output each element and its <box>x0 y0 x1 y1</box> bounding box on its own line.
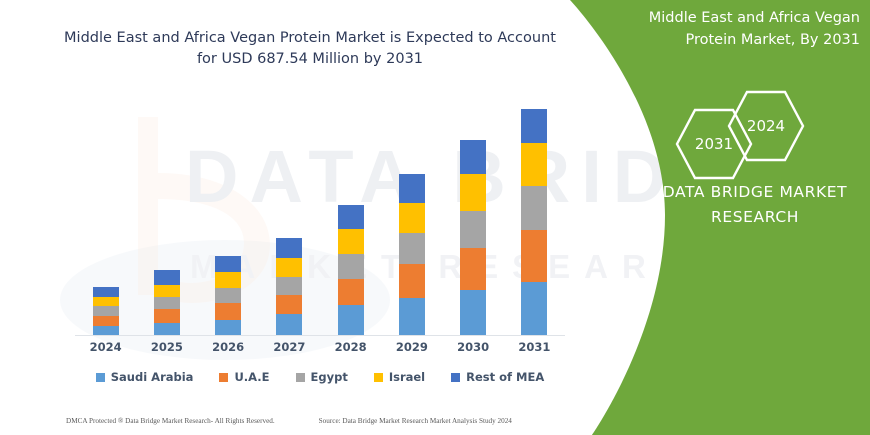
bar-segment-2028-egypt <box>338 254 364 279</box>
chart-legend: Saudi ArabiaU.A.EEgyptIsraelRest of MEA <box>75 370 565 384</box>
bar-segment-2029-egypt <box>399 233 425 264</box>
bar-segment-2027-rest-of-mea <box>276 238 302 259</box>
panel-brand-line1: DATA BRIDGE MARKET <box>650 180 860 205</box>
bar-2029 <box>399 174 425 335</box>
legend-swatch-icon <box>96 373 105 382</box>
bar-segment-2030-saudi-arabia <box>460 290 486 335</box>
bar-2024 <box>93 287 119 335</box>
legend-swatch-icon <box>374 373 383 382</box>
bar-2026 <box>215 256 241 335</box>
legend-item-saudi-arabia[interactable]: Saudi Arabia <box>96 370 194 384</box>
legend-swatch-icon <box>451 373 460 382</box>
legend-swatch-icon <box>219 373 228 382</box>
bar-segment-2029-rest-of-mea <box>399 174 425 203</box>
bar-segment-2027-israel <box>276 258 302 276</box>
chart-plot-area <box>75 100 565 336</box>
bar-segment-2025-egypt <box>154 297 180 309</box>
bar-2031 <box>521 109 547 335</box>
bar-segment-2025-u-a-e <box>154 309 180 322</box>
legend-item-u-a-e[interactable]: U.A.E <box>219 370 269 384</box>
bar-segment-2026-u-a-e <box>215 303 241 319</box>
bar-segment-2024-israel <box>93 297 119 306</box>
legend-label: Israel <box>389 370 425 384</box>
bar-segment-2026-israel <box>215 272 241 287</box>
bar-segment-2031-u-a-e <box>521 230 547 281</box>
hexagon-2024-label: 2024 <box>727 88 805 164</box>
hexagon-group: 2031 2024 <box>665 88 845 168</box>
bar-segment-2028-u-a-e <box>338 279 364 306</box>
panel-title: Middle East and Africa Vegan Protein Mar… <box>600 8 860 52</box>
bar-segment-2026-saudi-arabia <box>215 320 241 335</box>
bar-2027 <box>276 238 302 335</box>
x-axis-label-2025: 2025 <box>137 340 197 354</box>
bar-2028 <box>338 205 364 335</box>
footer: DMCA Protected ® Data Bridge Market Rese… <box>0 412 570 430</box>
green-side-panel: Middle East and Africa Vegan Protein Mar… <box>545 0 870 435</box>
footer-source-text: Source: Data Bridge Market Research Mark… <box>319 417 512 425</box>
x-axis-label-2030: 2030 <box>443 340 503 354</box>
bar-segment-2031-saudi-arabia <box>521 282 547 335</box>
bar-segment-2024-u-a-e <box>93 316 119 326</box>
bar-segment-2030-rest-of-mea <box>460 140 486 174</box>
bar-segment-2030-egypt <box>460 211 486 248</box>
bar-2030 <box>460 140 486 335</box>
bar-2025 <box>154 270 180 335</box>
bar-segment-2024-rest-of-mea <box>93 287 119 297</box>
bar-segment-2027-saudi-arabia <box>276 314 302 335</box>
bar-segment-2031-israel <box>521 143 547 186</box>
bar-segment-2027-u-a-e <box>276 295 302 315</box>
legend-item-israel[interactable]: Israel <box>374 370 425 384</box>
bar-segment-2026-rest-of-mea <box>215 256 241 272</box>
bar-segment-2030-israel <box>460 174 486 211</box>
bar-segment-2025-saudi-arabia <box>154 323 180 335</box>
legend-swatch-icon <box>296 373 305 382</box>
legend-label: Egypt <box>311 370 348 384</box>
bar-segment-2024-egypt <box>93 306 119 315</box>
legend-item-rest-of-mea[interactable]: Rest of MEA <box>451 370 544 384</box>
bar-segment-2028-israel <box>338 229 364 254</box>
infographic-canvas: DATA BRIDGE MARKET RESEARCH Middle East … <box>0 0 870 435</box>
x-axis-label-2026: 2026 <box>198 340 258 354</box>
bar-segment-2029-saudi-arabia <box>399 298 425 335</box>
x-axis-line <box>75 335 565 336</box>
bar-segment-2031-rest-of-mea <box>521 109 547 143</box>
x-axis-label-2029: 2029 <box>382 340 442 354</box>
bar-segment-2027-egypt <box>276 277 302 295</box>
footer-dmca-text: DMCA Protected ® Data Bridge Market Rese… <box>66 417 275 425</box>
bar-segment-2024-saudi-arabia <box>93 326 119 335</box>
panel-brand-text: DATA BRIDGE MARKET RESEARCH <box>650 180 860 230</box>
bar-segment-2025-israel <box>154 285 180 297</box>
bar-segment-2028-saudi-arabia <box>338 305 364 335</box>
legend-label: Saudi Arabia <box>111 370 194 384</box>
bar-segment-2029-israel <box>399 203 425 234</box>
hexagon-2024: 2024 <box>727 88 805 164</box>
x-axis-label-2027: 2027 <box>259 340 319 354</box>
bar-segment-2026-egypt <box>215 288 241 303</box>
bar-segment-2025-rest-of-mea <box>154 270 180 284</box>
bar-segment-2028-rest-of-mea <box>338 205 364 230</box>
bar-segment-2029-u-a-e <box>399 264 425 298</box>
x-axis-label-2028: 2028 <box>321 340 381 354</box>
x-axis-label-2024: 2024 <box>76 340 136 354</box>
bar-segment-2031-egypt <box>521 186 547 230</box>
legend-label: U.A.E <box>234 370 269 384</box>
legend-label: Rest of MEA <box>466 370 544 384</box>
bar-segment-2030-u-a-e <box>460 248 486 290</box>
legend-item-egypt[interactable]: Egypt <box>296 370 348 384</box>
panel-brand-line2: RESEARCH <box>650 205 860 230</box>
chart-title: Middle East and Africa Vegan Protein Mar… <box>60 28 560 70</box>
